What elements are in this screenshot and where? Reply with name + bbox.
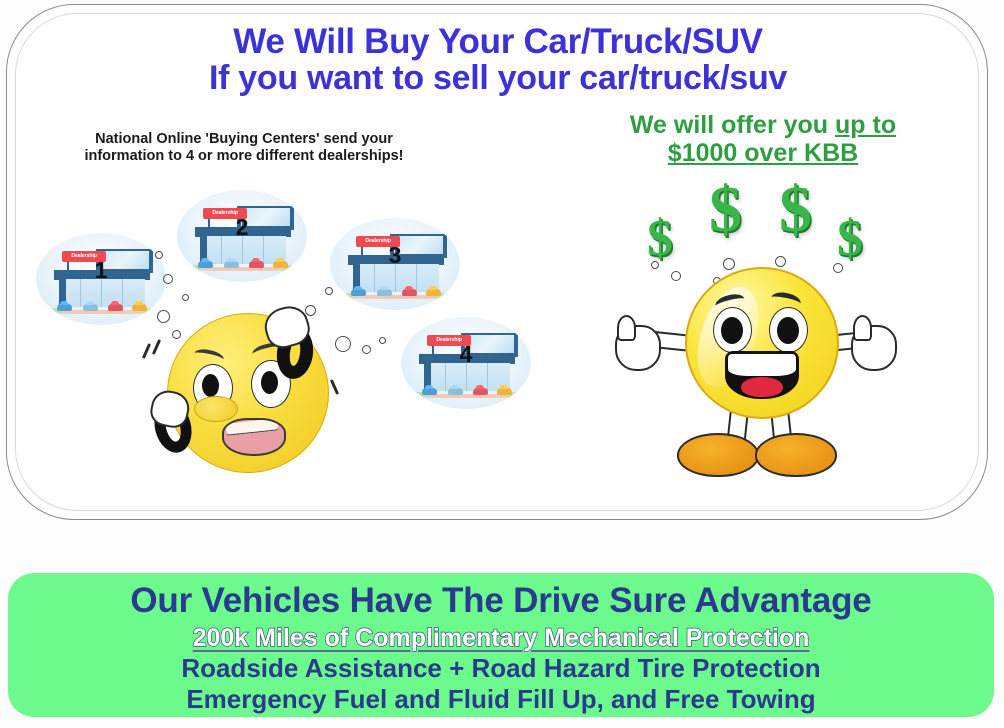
tongue-icon	[741, 377, 783, 397]
nose-icon	[194, 396, 238, 422]
thumbs-up-icon	[615, 325, 661, 371]
advantage-subtitle: 200k Miles of Complimentary Mechanical P…	[8, 623, 994, 653]
buying-centers-note-line-1: National Online 'Buying Centers' send yo…	[69, 131, 419, 148]
thought-bubble-icon	[155, 251, 163, 259]
dealership-card-2: Dealership 2	[177, 190, 307, 282]
kbb-offer-prefix: We will offer you	[630, 111, 835, 139]
dollar-sign-icon: $	[837, 213, 863, 265]
buying-centers-note-line-2: information to 4 or more different deale…	[69, 148, 419, 165]
shoe-icon	[755, 433, 837, 477]
dealership-card-3: Dealership 3	[330, 218, 460, 310]
thought-bubble-icon	[362, 345, 371, 354]
advantage-line-4: Emergency Fuel and Fluid Fill Up, and Fr…	[8, 684, 994, 715]
motion-line-icon	[142, 343, 151, 359]
eye-icon	[769, 307, 808, 353]
headline-line-1: We Will Buy Your Car/Truck/SUV	[7, 23, 989, 60]
thought-bubble-icon	[379, 337, 386, 344]
dealership-number-4: 4	[401, 341, 531, 368]
thought-bubble-icon	[325, 287, 333, 295]
eyebrow-icon	[193, 347, 225, 366]
kbb-offer-amount: $1000 over KBB	[668, 139, 858, 167]
advantage-banner: Our Vehicles Have The Drive Sure Advanta…	[8, 573, 994, 717]
thought-bubble-icon	[163, 274, 173, 284]
advantage-title: Our Vehicles Have The Drive Sure Advanta…	[8, 579, 994, 623]
motion-line-icon	[152, 339, 161, 355]
kbb-offer-line-1: We will offer you up to	[603, 111, 923, 139]
dealership-card-1: Dealership 1	[36, 233, 166, 325]
dealership-number-3: 3	[330, 242, 460, 269]
mouth-icon	[725, 351, 799, 399]
thought-bubble-icon	[335, 336, 351, 352]
motion-line-icon	[330, 379, 339, 395]
dollar-sign-icon: $	[779, 177, 812, 243]
dealership-card-4: Dealership 4	[401, 317, 531, 409]
thought-bubble-icon	[775, 256, 786, 267]
happy-emoji	[603, 267, 903, 497]
buying-centers-note: National Online 'Buying Centers' send yo…	[69, 131, 419, 165]
headline-line-2: If you want to sell your car/truck/suv	[7, 60, 989, 97]
shoe-icon	[677, 433, 759, 477]
dealership-number-1: 1	[36, 257, 166, 284]
thumbs-up-icon	[851, 325, 897, 371]
top-advert-panel: We Will Buy Your Car/Truck/SUV If you wa…	[6, 4, 988, 520]
dealership-number-2: 2	[177, 214, 307, 241]
dollar-sign-icon: $	[709, 177, 742, 243]
page-title: We Will Buy Your Car/Truck/SUV If you wa…	[7, 23, 989, 97]
eye-icon	[713, 307, 752, 353]
kbb-offer-line-2: $1000 over KBB	[603, 139, 923, 167]
dollar-sign-icon: $	[647, 213, 673, 265]
kbb-offer-text: We will offer you up to $1000 over KBB	[603, 111, 923, 167]
thought-bubble-icon	[182, 294, 189, 301]
confused-emoji	[157, 305, 337, 485]
happy-face	[685, 267, 839, 419]
advantage-line-3: Roadside Assistance + Road Hazard Tire P…	[8, 653, 994, 684]
kbb-offer-up-to: up to	[835, 111, 896, 139]
mouth-icon	[222, 418, 286, 456]
